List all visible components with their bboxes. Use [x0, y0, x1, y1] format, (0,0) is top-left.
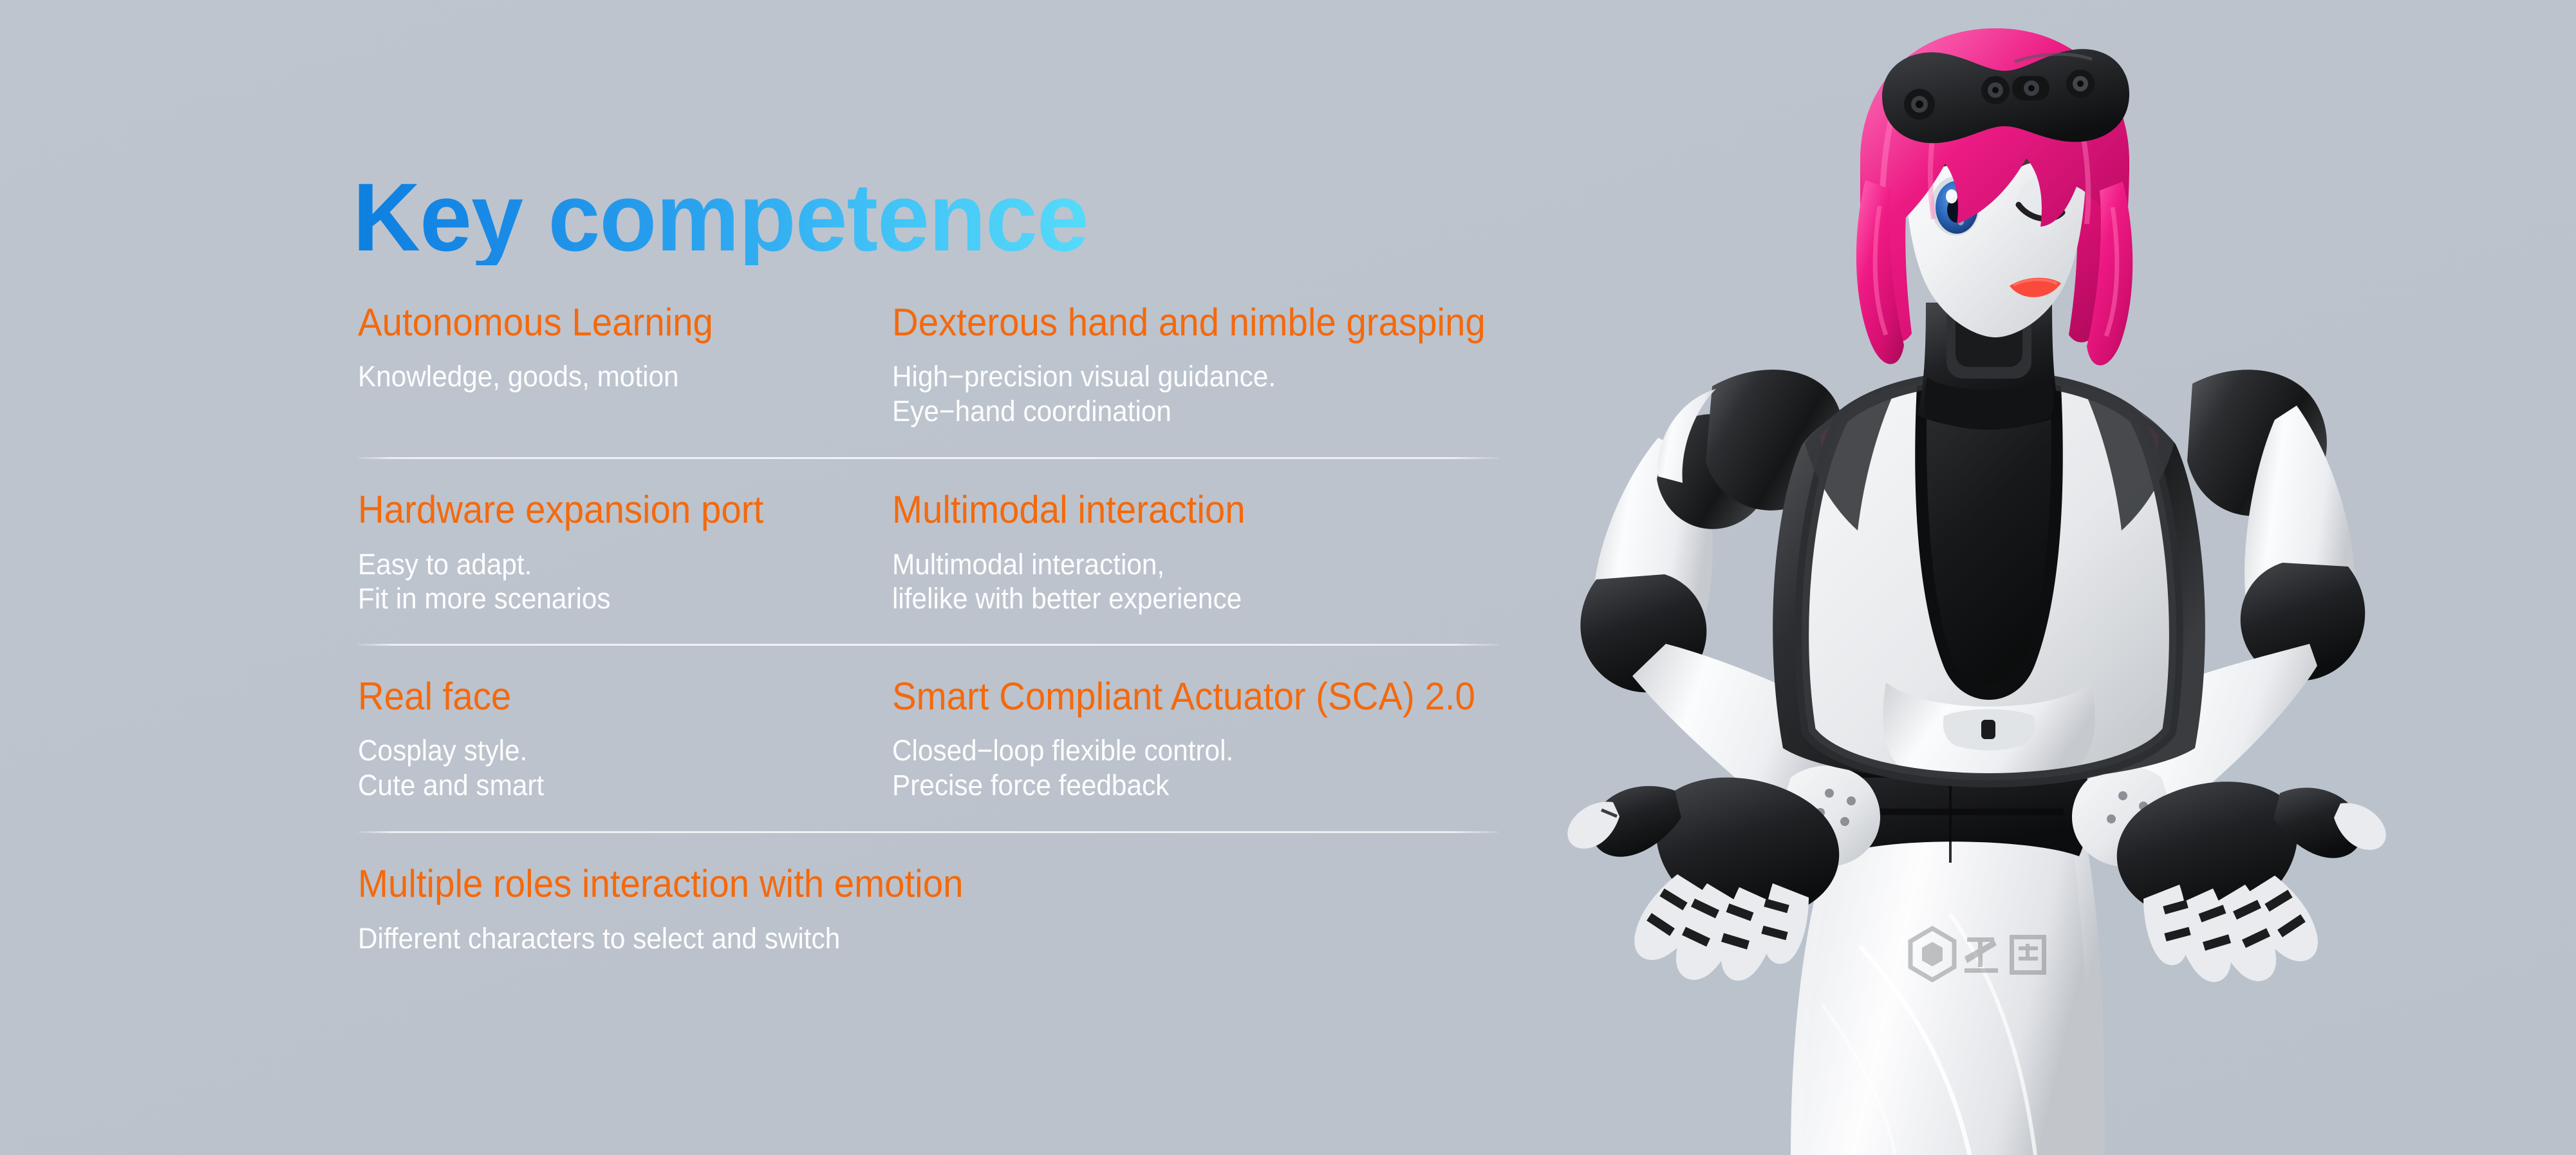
robot-lower-body: [1791, 837, 2105, 1155]
feature-body: Different characters to select and switc…: [358, 921, 1430, 956]
feature-row: Multiple roles interaction with emotion …: [358, 833, 1498, 955]
feature-cell-multimodal-interaction: Multimodal interaction Multimodal intera…: [892, 490, 1498, 615]
feature-heading: Hardware expansion port: [358, 490, 860, 530]
feature-heading: Dexterous hand and nimble grasping: [892, 303, 1462, 343]
feature-body: Easy to adapt. Fit in more scenarios: [358, 547, 860, 616]
robot-illustration: [1500, 0, 2576, 1155]
feature-body: Cosplay style. Cute and smart: [358, 733, 860, 802]
feature-cell-hardware-expansion-port: Hardware expansion port Easy to adapt. F…: [358, 490, 892, 615]
feature-heading: Multimodal interaction: [892, 490, 1462, 530]
feature-row: Real face Cosplay style. Cute and smart …: [358, 646, 1498, 833]
feature-cell-smart-compliant-actuator: Smart Compliant Actuator (SCA) 2.0 Close…: [892, 677, 1498, 802]
feature-body: Closed−loop flexible control. Precise fo…: [892, 733, 1462, 802]
robot-torso: [1773, 377, 2205, 783]
key-competence-grid: Autonomous Learning Knowledge, goods, mo…: [358, 303, 1498, 955]
feature-heading: Smart Compliant Actuator (SCA) 2.0: [892, 677, 1462, 717]
feature-body: High−precision visual guidance. Eye−hand…: [892, 359, 1462, 428]
slide-canvas: Key competence Autonomous Learning Knowl…: [0, 0, 2576, 1155]
feature-cell-autonomous-learning: Autonomous Learning Knowledge, goods, mo…: [358, 303, 892, 428]
feature-heading: Real face: [358, 677, 860, 717]
feature-heading: Multiple roles interaction with emotion: [358, 864, 1430, 904]
robot-head: [1856, 28, 2133, 366]
feature-row: Hardware expansion port Easy to adapt. F…: [358, 459, 1498, 645]
feature-cell-multiple-roles-interaction: Multiple roles interaction with emotion …: [358, 864, 1498, 955]
feature-heading: Autonomous Learning: [358, 303, 860, 343]
feature-cell-real-face: Real face Cosplay style. Cute and smart: [358, 677, 892, 802]
page-title: Key competence: [353, 169, 1088, 265]
feature-body: Knowledge, goods, motion: [358, 359, 860, 394]
feature-body: Multimodal interaction, lifelike with be…: [892, 547, 1462, 616]
feature-cell-dexterous-hand: Dexterous hand and nimble grasping High−…: [892, 303, 1498, 428]
feature-row: Autonomous Learning Knowledge, goods, mo…: [358, 303, 1498, 459]
